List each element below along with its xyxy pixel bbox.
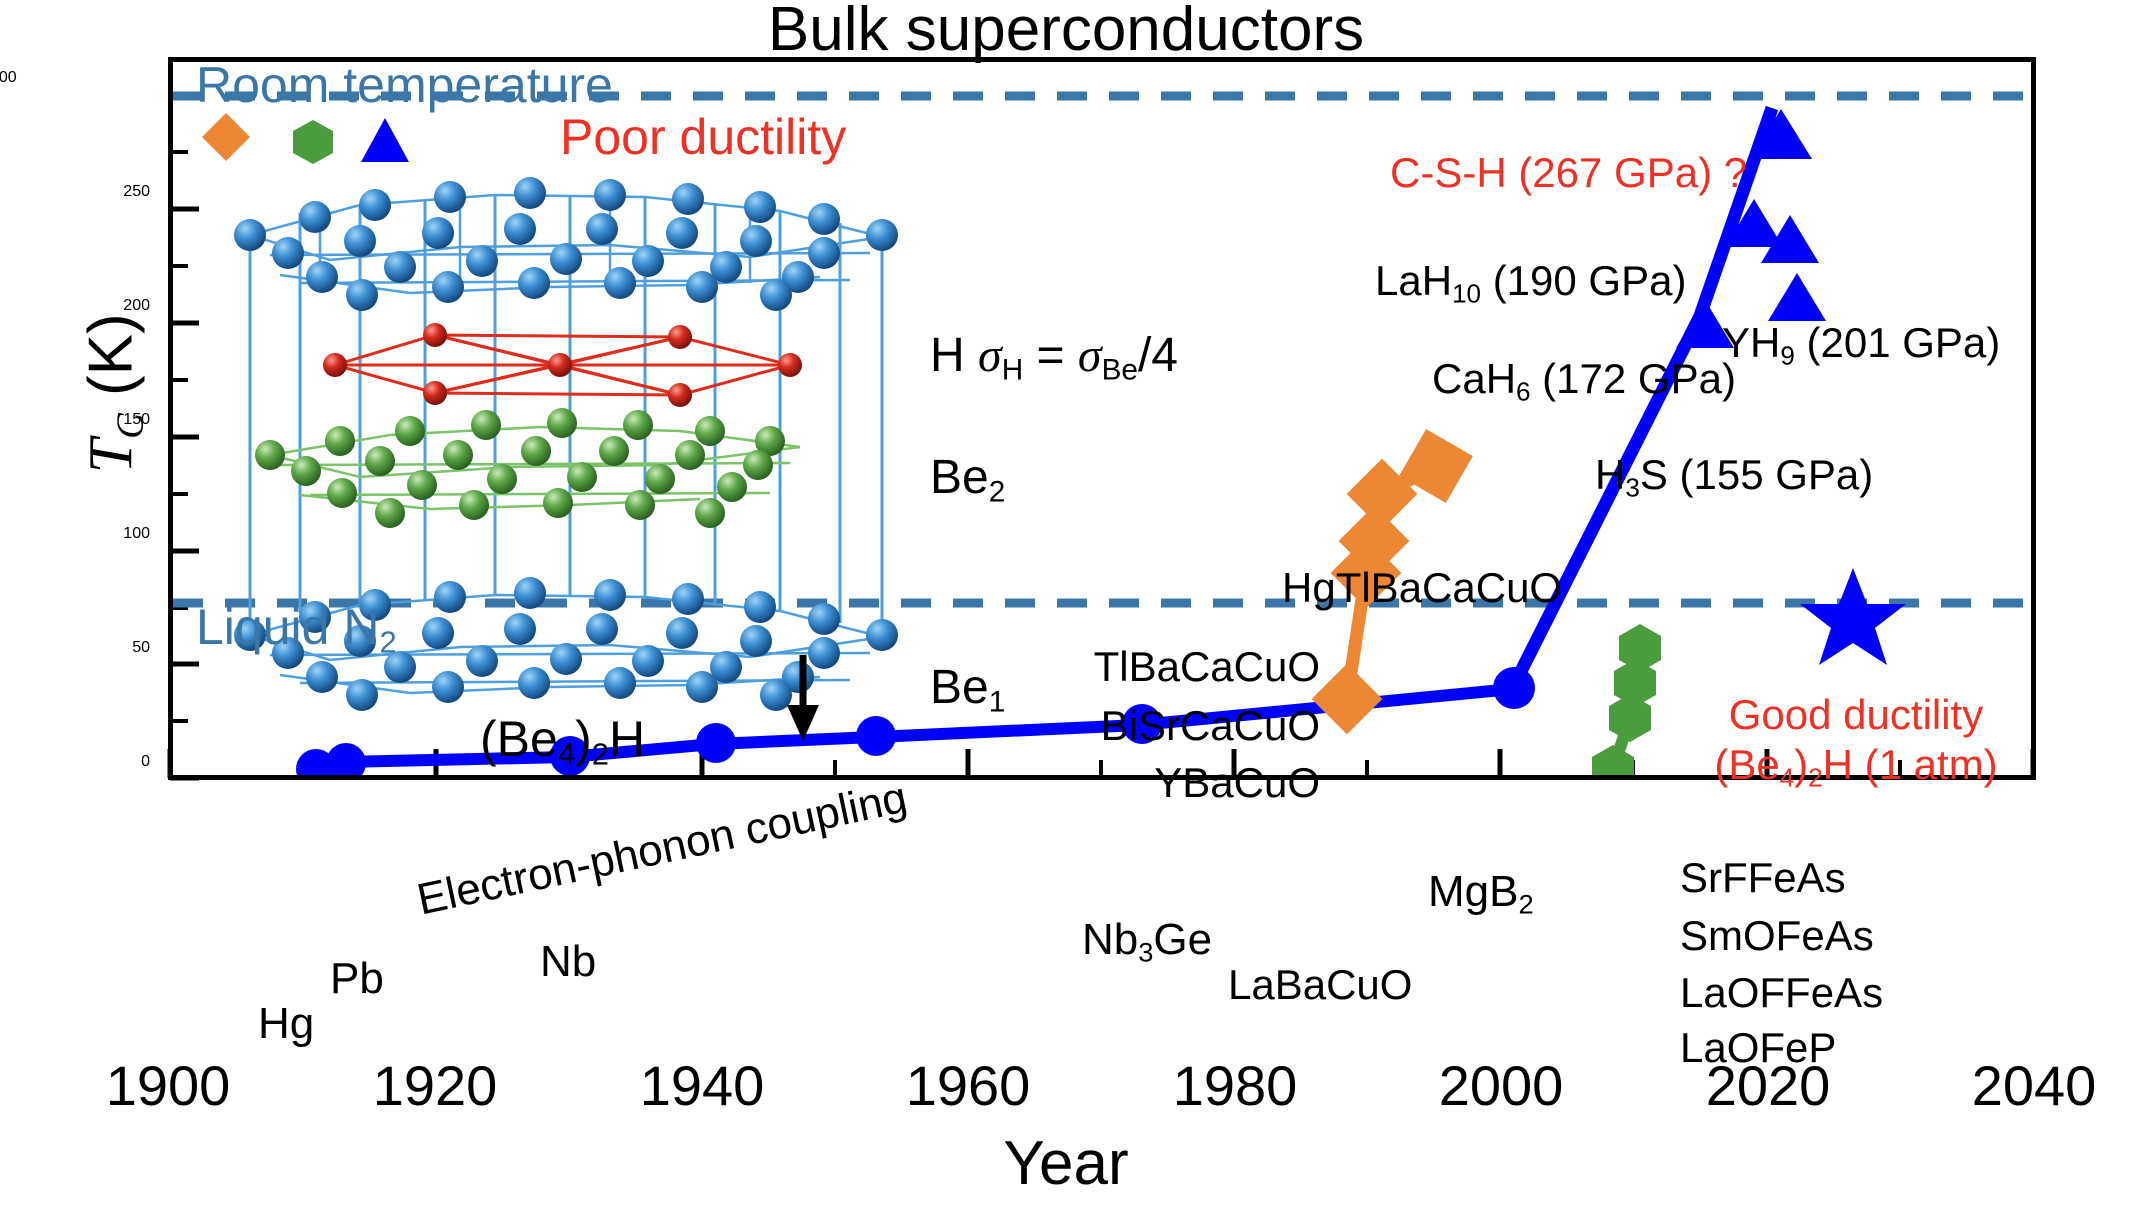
label-good-ductility-formula: (Be4)2H (1 atm) (1646, 742, 2066, 791)
label-cah6: CaH6 (172 GPa) (1432, 356, 1736, 405)
gd-close: ) (1794, 741, 1808, 788)
label-mgb2-sub: 2 (1518, 889, 1533, 920)
label-yh9: YH9 (201 GPa) (1722, 320, 2000, 369)
label-laoffeas: LaOFFeAs (1680, 970, 1883, 1015)
inset-be1-sub: 1 (989, 685, 1006, 718)
liquid-nitrogen-label-sub: 2 (379, 625, 396, 660)
inset-sigma-h: σ (978, 329, 1002, 382)
inset-caption-be4-2h: (Be4)2H (480, 712, 645, 771)
poor-ductility-label: Poor ductility (560, 110, 846, 164)
label-h3s-sub: 3 (1625, 472, 1639, 502)
gd-sub4: 4 (1780, 762, 1794, 792)
label-mgb2: MgB2 (1428, 868, 1534, 919)
label-mgb2-main: MgB (1428, 867, 1518, 916)
inset-caption-close: ) (575, 711, 592, 767)
label-ybacuo: YBaCuO (1045, 760, 1320, 805)
label-laofep: LaOFeP (1680, 1025, 1836, 1070)
label-srffeas: SrFFeAs (1680, 855, 1846, 900)
label-smofeas: SmOFeAs (1680, 913, 1874, 958)
label-yh9-tail: (201 GPa) (1795, 319, 2000, 366)
series-conventional-superconductors (296, 108, 1772, 789)
data-point-1953 (856, 716, 896, 756)
gd-sub2: 2 (1808, 762, 1822, 792)
legend-markers[interactable] (195, 112, 535, 170)
inset-caption-open: (Be (480, 711, 558, 767)
legend-hexagon-icon[interactable] (293, 120, 333, 164)
data-point-1941 (696, 723, 736, 763)
inset-be2-main: Be (930, 451, 989, 504)
label-h3s-main: H (1595, 451, 1625, 498)
label-lah10: LaH10 (190 GPa) (1375, 258, 1686, 307)
electron-phonon-arrow (787, 655, 819, 741)
label-csh: C-S-H (267 GPa) ? (1390, 150, 1747, 195)
gd-open: (Be (1714, 741, 1779, 788)
label-yh9-sub: 9 (1780, 340, 1794, 370)
label-lah10-tail: (190 GPa) (1481, 257, 1686, 304)
gd-tail: H (1 atm) (1823, 741, 1998, 788)
label-nb3ge-tail: Ge (1153, 915, 1212, 964)
label-pb: Pb (330, 955, 384, 1003)
label-nb: Nb (540, 938, 596, 986)
label-nb3ge-sub: 3 (1138, 937, 1153, 968)
liquid-nitrogen-label-main: Liquid N (196, 599, 379, 655)
inset-h-symbol: H (930, 329, 965, 382)
inset-caption-h: H (609, 711, 645, 767)
figure-root: Bulk superconductors 300 250 200 150 100… (0, 0, 2132, 1213)
data-point-pb (326, 743, 366, 783)
label-nb3ge-main: Nb (1082, 915, 1138, 964)
label-labacuo: LaBaCuO (1228, 962, 1412, 1007)
room-temperature-label: Room temperature (196, 58, 613, 112)
inset-sigma-h-sub: H (1002, 353, 1024, 386)
series-be4-2h-prediction (1800, 568, 1906, 665)
label-h3s-tail: S (155 GPa) (1640, 451, 1873, 498)
label-nb3ge: Nb3Ge (1082, 916, 1212, 967)
legend-diamond-icon[interactable] (202, 113, 250, 161)
inset-sigma-be-sub: Be (1102, 353, 1138, 386)
inset-be1-label: Be1 (930, 662, 1005, 718)
legend-triangle-icon[interactable] (361, 118, 409, 162)
inset-caption-sub4: 4 (558, 737, 575, 772)
label-cah6-sub: 6 (1516, 376, 1530, 406)
label-hg: Hg (258, 1000, 314, 1048)
label-h3s: H3S (155 GPa) (1595, 452, 1873, 501)
label-cah6-tail: (172 GPa) (1531, 355, 1736, 402)
data-point-labacuo (1312, 664, 1383, 735)
liquid-nitrogen-label: Liquid N2 (196, 600, 397, 659)
inset-over-four: /4 (1138, 329, 1178, 382)
inset-be2-sub: 2 (989, 475, 1006, 508)
data-point-mgb2 (1493, 667, 1535, 709)
label-good-ductility: Good ductility (1646, 692, 2066, 737)
data-point-laofep (1592, 745, 1634, 793)
data-point-cah6 (1768, 273, 1826, 321)
label-hgtlbacacuo: HgTlBaCaCuO (1282, 565, 1562, 610)
label-lah10-sub: 10 (1452, 278, 1481, 308)
inset-be1-main: Be (930, 661, 989, 714)
inset-sigma-be: σ (1078, 329, 1102, 382)
inset-equals: = (1023, 329, 1078, 382)
inset-sigma-formula: H σH = σBe/4 (930, 330, 1178, 386)
label-lah10-main: LaH (1375, 257, 1452, 304)
data-point-be4-2h-star (1800, 568, 1906, 665)
label-bisrcacuo: BiSrCaCuO (1045, 703, 1320, 748)
label-tlbacacuo: TlBaCaCuO (1045, 644, 1320, 689)
inset-be2-label: Be2 (930, 452, 1005, 508)
inset-caption-sub2: 2 (592, 737, 609, 772)
series-hydrides (1676, 109, 1826, 348)
label-cah6-main: CaH (1432, 355, 1516, 402)
